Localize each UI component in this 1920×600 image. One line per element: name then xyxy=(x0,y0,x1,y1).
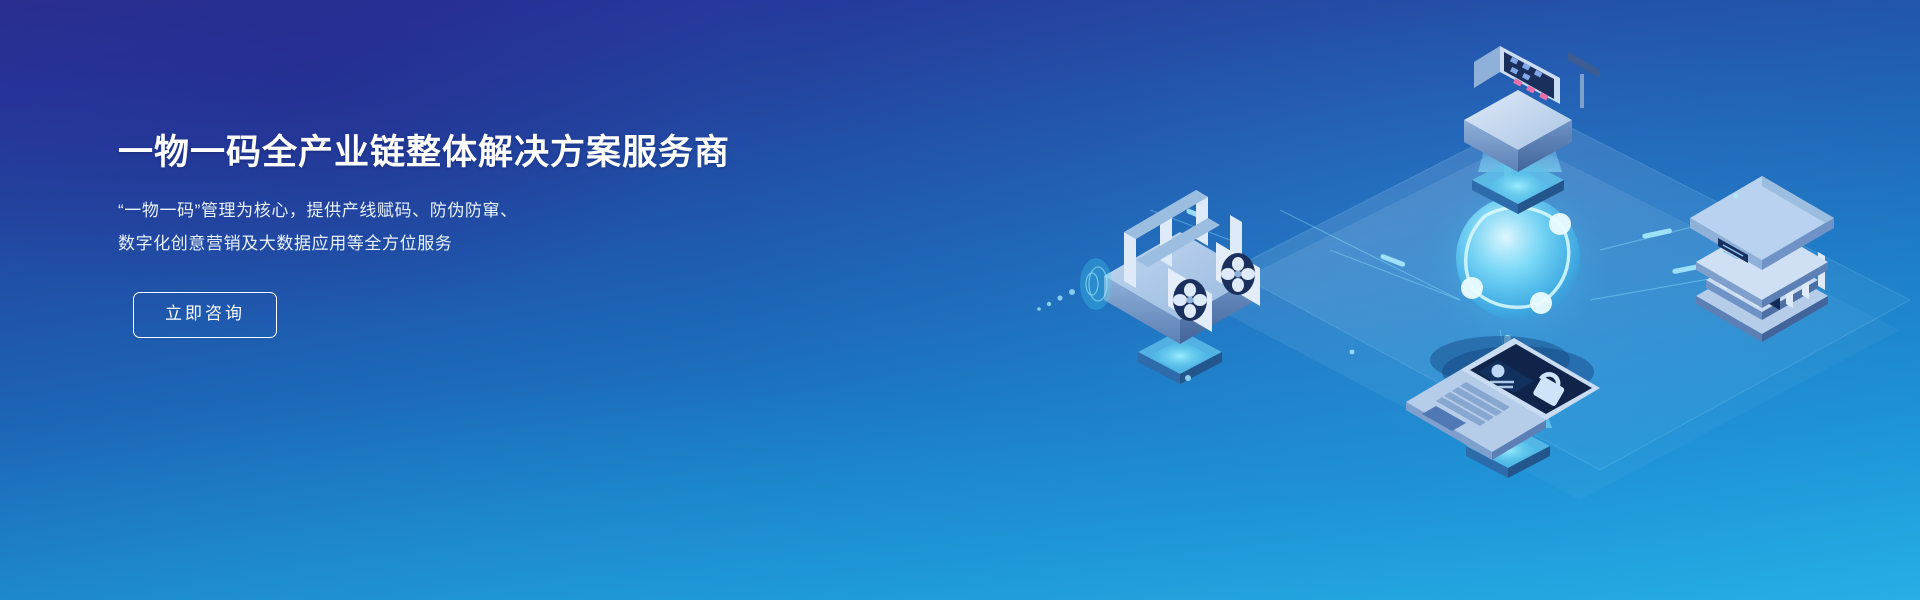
hero-subtitle-line-2: 数字化创意营销及大数据应用等全方位服务 xyxy=(118,227,878,260)
page-title: 一物一码全产业链整体解决方案服务商 xyxy=(118,133,878,172)
hero-subtitle-line-1: “一物一码”管理为核心，提供产线赋码、防伪防窜、 xyxy=(118,194,878,227)
hero-subtitle: “一物一码”管理为核心，提供产线赋码、防伪防窜、 数字化创意营销及大数据应用等全… xyxy=(118,194,878,260)
isometric-illustration xyxy=(900,0,1920,600)
consult-now-button[interactable]: 立即咨询 xyxy=(133,292,277,337)
hero-copy-block: 一物一码全产业链整体解决方案服务商 “一物一码”管理为核心，提供产线赋码、防伪防… xyxy=(118,133,878,338)
hero-banner: 一物一码全产业链整体解决方案服务商 “一物一码”管理为核心，提供产线赋码、防伪防… xyxy=(0,0,1920,600)
server-rack-icon xyxy=(1037,190,1260,384)
data-emission-icon xyxy=(1037,258,1112,311)
